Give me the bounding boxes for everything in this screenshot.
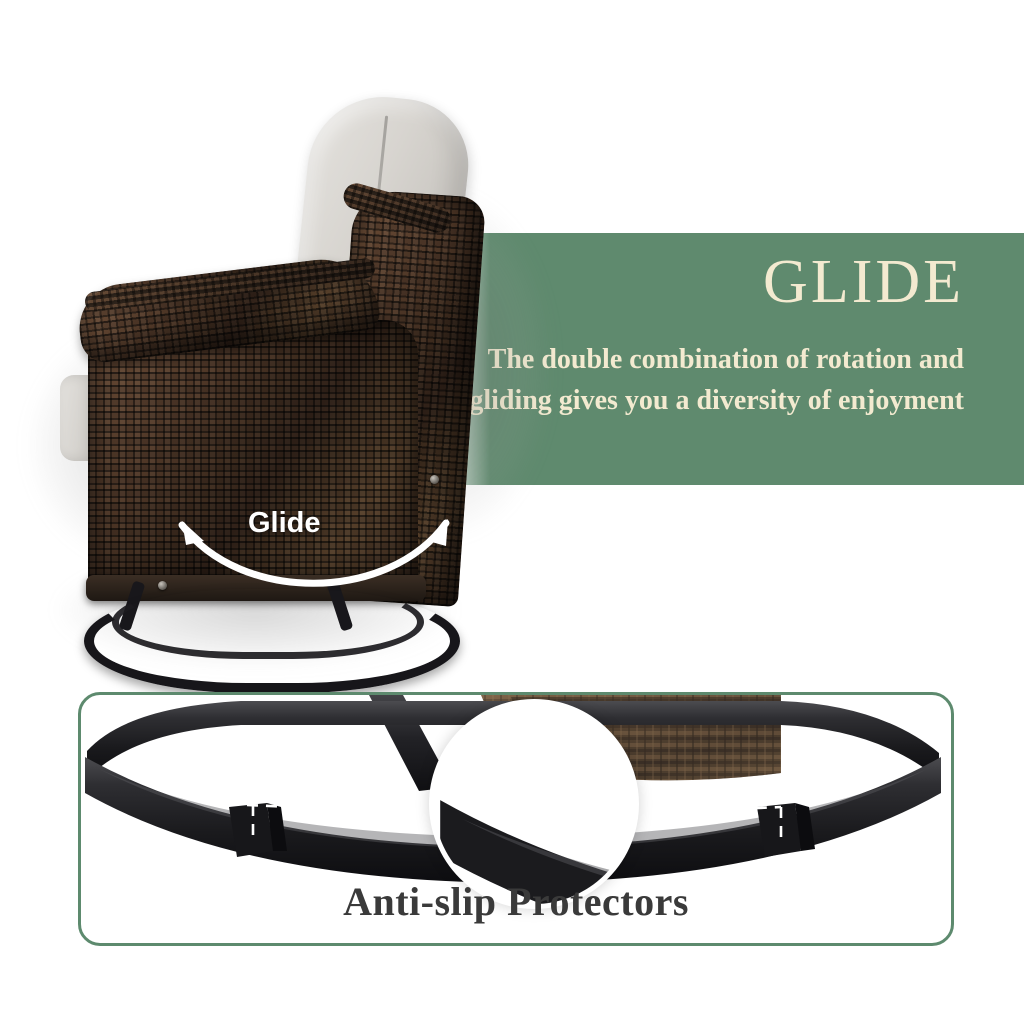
anti-slip-title: Anti-slip Protectors <box>81 878 951 925</box>
page-title: GLIDE <box>763 251 964 313</box>
infographic-canvas: GLIDE The double combination of rotation… <box>0 0 1024 1024</box>
anti-slip-foot-right <box>757 803 815 857</box>
anti-slip-feature-panel: Anti-slip Protectors <box>78 692 954 946</box>
screw-icon <box>430 475 439 484</box>
double-arrow-icon <box>160 507 470 612</box>
product-photo-glider-chair: Glide <box>40 75 560 645</box>
glide-feature-section: GLIDE The double combination of rotation… <box>0 0 1024 660</box>
anti-slip-foot-left <box>229 803 287 857</box>
glide-annotation: Glide <box>160 507 470 612</box>
